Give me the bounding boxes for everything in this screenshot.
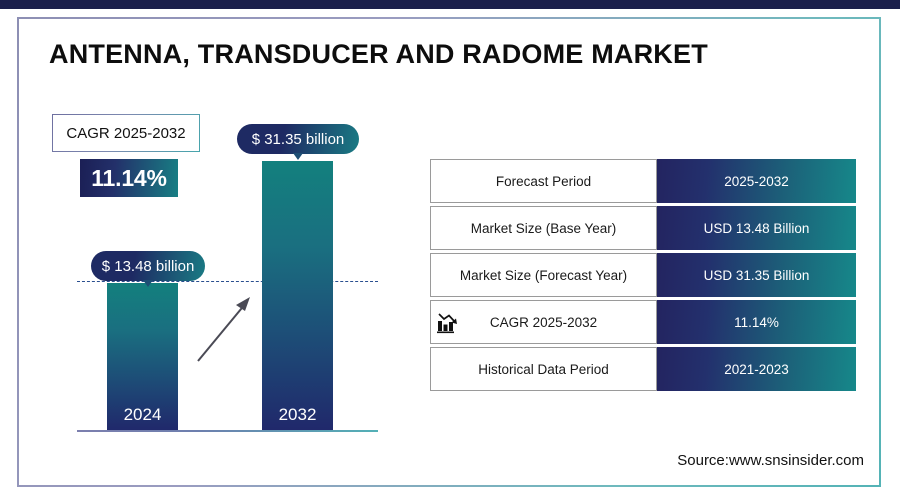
top-accent-bar bbox=[0, 0, 900, 9]
table-row-value: USD 13.48 Billion bbox=[704, 221, 810, 236]
table-row-value-cell: 2021-2023 bbox=[657, 347, 856, 391]
bar-2032: 2032 bbox=[262, 161, 333, 431]
table-row: Market Size (Forecast Year) USD 31.35 Bi… bbox=[430, 253, 856, 297]
summary-table: Forecast Period 2025-2032 Market Size (B… bbox=[430, 159, 856, 394]
table-row-label-cell: Market Size (Base Year) bbox=[430, 206, 657, 250]
table-row: Market Size (Base Year) USD 13.48 Billio… bbox=[430, 206, 856, 250]
table-row-value: 2021-2023 bbox=[724, 362, 789, 377]
infographic-canvas: ANTENNA, TRANSDUCER AND RADOME MARKET CA… bbox=[0, 9, 900, 500]
table-row-label-cell: Historical Data Period bbox=[430, 347, 657, 391]
table-row-value-cell: 11.14% bbox=[657, 300, 856, 344]
source-attribution: Source:www.snsinsider.com bbox=[677, 452, 864, 469]
value-pill-2024: $ 13.48 billion bbox=[91, 251, 205, 281]
table-row-value: 2025-2032 bbox=[724, 174, 789, 189]
table-row: Forecast Period 2025-2032 bbox=[430, 159, 856, 203]
table-row: Historical Data Period 2021-2023 bbox=[430, 347, 856, 391]
table-row-label-cell: Market Size (Forecast Year) bbox=[430, 253, 657, 297]
table-row-label-cell: CAGR 2025-2032 bbox=[430, 300, 657, 344]
table-row-label: Market Size (Forecast Year) bbox=[460, 268, 627, 283]
value-pill-2032: $ 31.35 billion bbox=[237, 124, 359, 154]
table-row-value-cell: USD 13.48 Billion bbox=[657, 206, 856, 250]
table-row-value: 11.14% bbox=[734, 315, 779, 330]
table-row-label-cell: Forecast Period bbox=[430, 159, 657, 203]
growth-arrow-icon bbox=[190, 289, 270, 369]
value-pill-2024-text: $ 13.48 billion bbox=[102, 258, 195, 275]
table-row-label: Market Size (Base Year) bbox=[471, 221, 617, 236]
table-row-value-cell: USD 31.35 Billion bbox=[657, 253, 856, 297]
table-row-label: Historical Data Period bbox=[478, 362, 609, 377]
value-pill-2032-text: $ 31.35 billion bbox=[252, 131, 345, 148]
table-row-value-cell: 2025-2032 bbox=[657, 159, 856, 203]
table-row-label: Forecast Period bbox=[496, 174, 591, 189]
bar-label-2032: 2032 bbox=[262, 405, 333, 425]
table-row: CAGR 2025-2032 11.14% bbox=[430, 300, 856, 344]
table-row-label: CAGR 2025-2032 bbox=[490, 315, 597, 330]
bar-label-2024: 2024 bbox=[107, 405, 178, 425]
bar-chart: 2032 2024 $ 31.35 billion $ 13.48 billio… bbox=[0, 9, 420, 479]
bar-2024: 2024 bbox=[107, 283, 178, 431]
bar-chart-trend-icon bbox=[437, 310, 463, 334]
chart-axis-line bbox=[77, 430, 378, 432]
table-row-value: USD 31.35 Billion bbox=[704, 268, 810, 283]
